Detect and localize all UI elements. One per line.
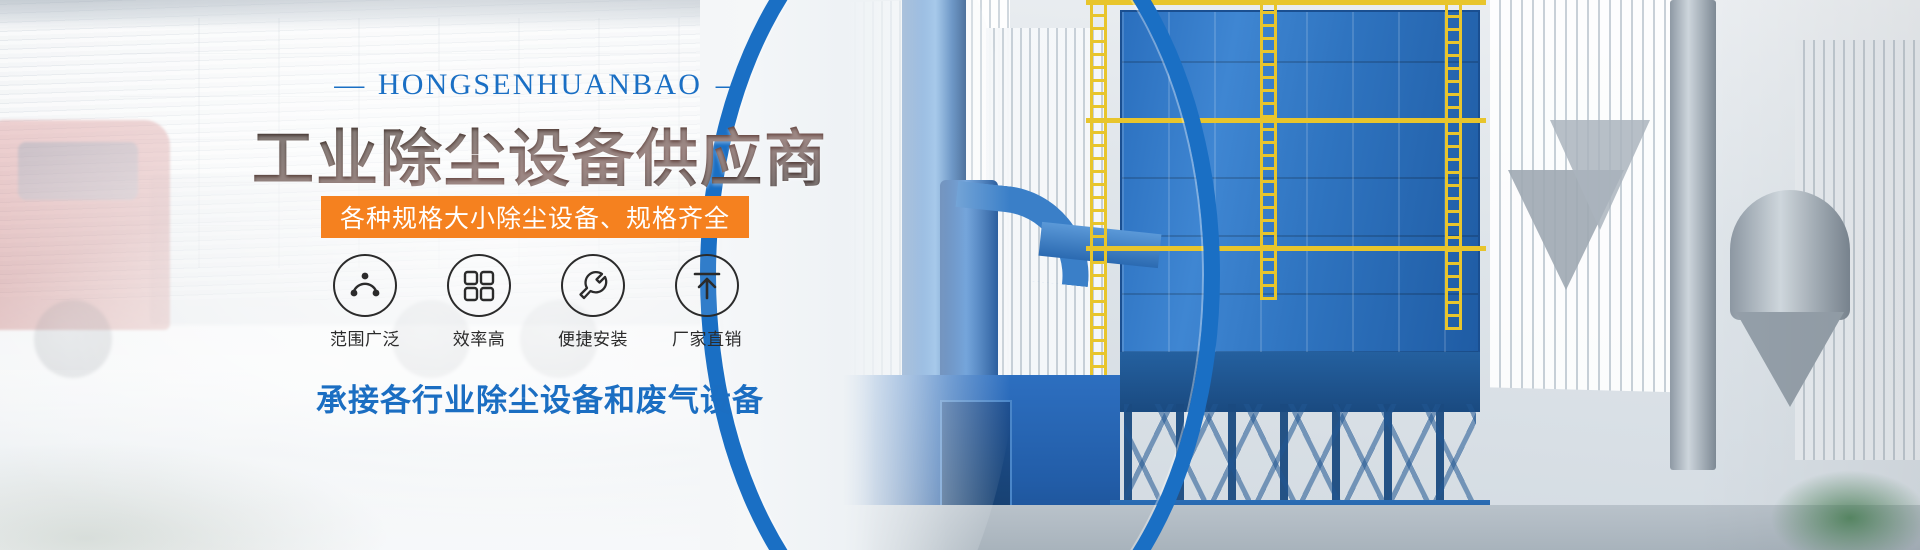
eyebrow-right-dash: — bbox=[712, 68, 750, 101]
wrench-icon bbox=[575, 268, 611, 304]
eyebrow-text: HONGSENHUANBAO bbox=[378, 68, 702, 101]
feature-icon-circle bbox=[447, 254, 511, 317]
banner-content: — HONGSENHUANBAO — 工业除尘设备供应商 各种规格大小除尘设备、… bbox=[0, 0, 1100, 550]
feature-label: 厂家直销 bbox=[672, 325, 742, 350]
feature-label: 范围广泛 bbox=[330, 325, 400, 350]
orange-ribbon: 各种规格大小除尘设备、规格齐全 bbox=[321, 196, 749, 238]
hero-banner: — HONGSENHUANBAO — 工业除尘设备供应商 各种规格大小除尘设备、… bbox=[0, 0, 1920, 550]
feature-label: 效率高 bbox=[453, 325, 506, 350]
eyebrow-left-dash: — bbox=[330, 68, 368, 101]
feature-label: 便捷安装 bbox=[558, 325, 628, 350]
ribbon-text: 各种规格大小除尘设备、规格齐全 bbox=[340, 199, 730, 235]
feature-icon-circle bbox=[675, 254, 739, 317]
feature-item-factory-direct[interactable]: 厂家直销 bbox=[663, 254, 751, 350]
up-arrow-bar-icon bbox=[690, 269, 724, 303]
network-nodes-icon bbox=[347, 268, 383, 304]
feature-list: 范围广泛 效率高 bbox=[321, 254, 751, 350]
feature-item-wide-range[interactable]: 范围广泛 bbox=[321, 254, 409, 350]
feature-item-high-efficiency[interactable]: 效率高 bbox=[435, 254, 523, 350]
feature-item-easy-install[interactable]: 便捷安装 bbox=[549, 254, 637, 350]
grid-squares-icon bbox=[462, 269, 496, 303]
feature-icon-circle bbox=[561, 254, 625, 317]
brand-eyebrow: — HONGSENHUANBAO — bbox=[0, 68, 1080, 102]
tagline: 承接各行业除尘设备和废气设备 bbox=[0, 375, 1080, 420]
feature-icon-circle bbox=[333, 254, 397, 317]
page-title: 工业除尘设备供应商 bbox=[0, 108, 1080, 198]
